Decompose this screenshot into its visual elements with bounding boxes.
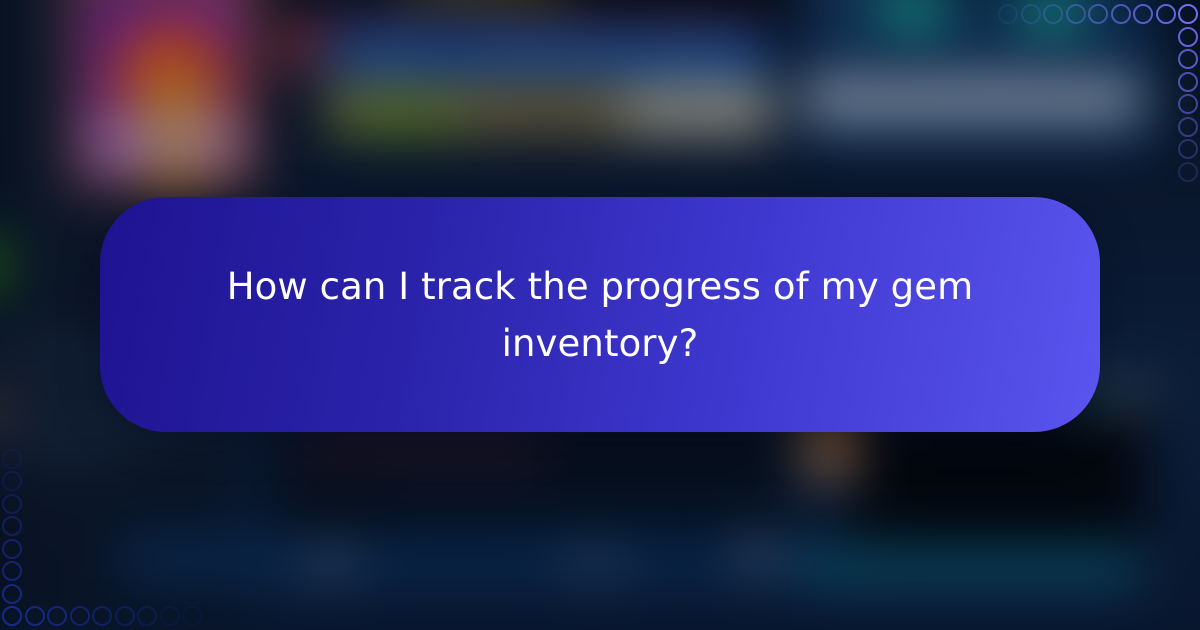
question-text: How can I track the progress of my gem i… [220,258,980,372]
question-card: How can I track the progress of my gem i… [100,197,1100,432]
og-card-canvas: How can I track the progress of my gem i… [0,0,1200,630]
